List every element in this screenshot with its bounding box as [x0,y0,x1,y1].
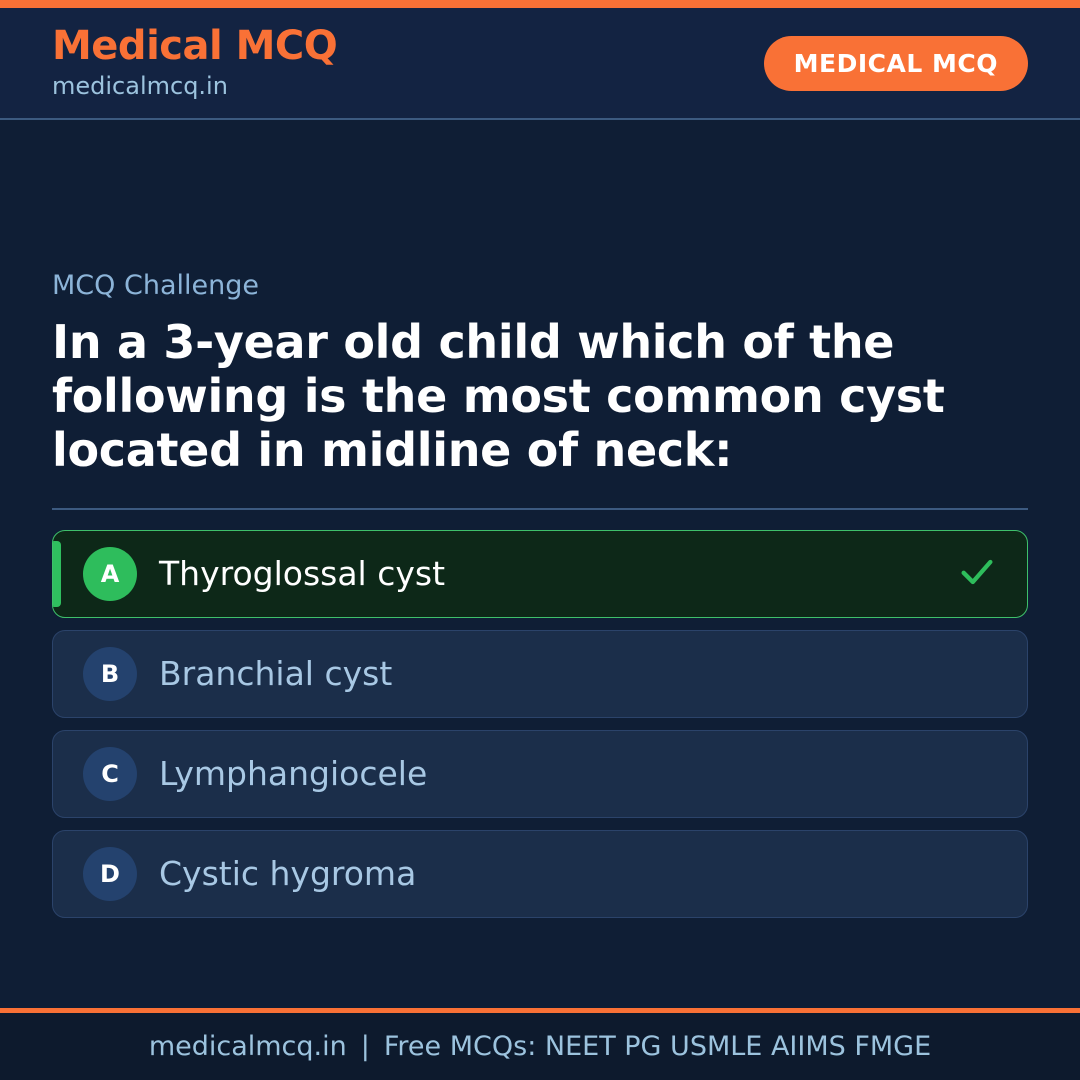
footer: medicalmcq.in | Free MCQs: NEET PG USMLE… [0,1013,1080,1080]
option-b-label: Branchial cyst [159,656,997,692]
footer-site: medicalmcq.in [149,1031,347,1062]
brand-title: Medical MCQ [52,25,337,68]
option-c[interactable]: C Lymphangiocele [52,730,1028,818]
question-area: MCQ Challenge In a 3-year old child whic… [0,120,1080,1008]
footer-wrap: medicalmcq.in | Free MCQs: NEET PG USMLE… [0,1008,1080,1080]
option-d-label: Cystic hygroma [159,856,997,892]
option-a-letter: A [83,547,137,601]
brand-subtitle: medicalmcq.in [52,71,337,101]
option-c-letter: C [83,747,137,801]
check-icon [957,552,997,596]
option-a-label: Thyroglossal cyst [159,556,945,592]
question-text: In a 3-year old child which of the follo… [52,316,1012,477]
brand-badge: MEDICAL MCQ [764,36,1028,91]
option-d-letter: D [83,847,137,901]
brand-block: Medical MCQ medicalmcq.in [52,25,337,100]
correct-accent-bar [53,541,61,607]
footer-separator: | [347,1031,384,1062]
header: Medical MCQ medicalmcq.in MEDICAL MCQ [0,8,1080,120]
option-c-label: Lymphangiocele [159,756,997,792]
option-b-letter: B [83,647,137,701]
options-list: A Thyroglossal cyst B Branchial cyst C L… [52,530,1028,918]
top-accent-bar [0,0,1080,8]
option-b[interactable]: B Branchial cyst [52,630,1028,718]
kicker-label: MCQ Challenge [52,270,1028,302]
option-a[interactable]: A Thyroglossal cyst [52,530,1028,618]
mcq-card: Medical MCQ medicalmcq.in MEDICAL MCQ MC… [0,0,1080,1080]
question-divider [52,508,1028,510]
option-d[interactable]: D Cystic hygroma [52,830,1028,918]
footer-tagline: Free MCQs: NEET PG USMLE AIIMS FMGE [384,1031,931,1062]
